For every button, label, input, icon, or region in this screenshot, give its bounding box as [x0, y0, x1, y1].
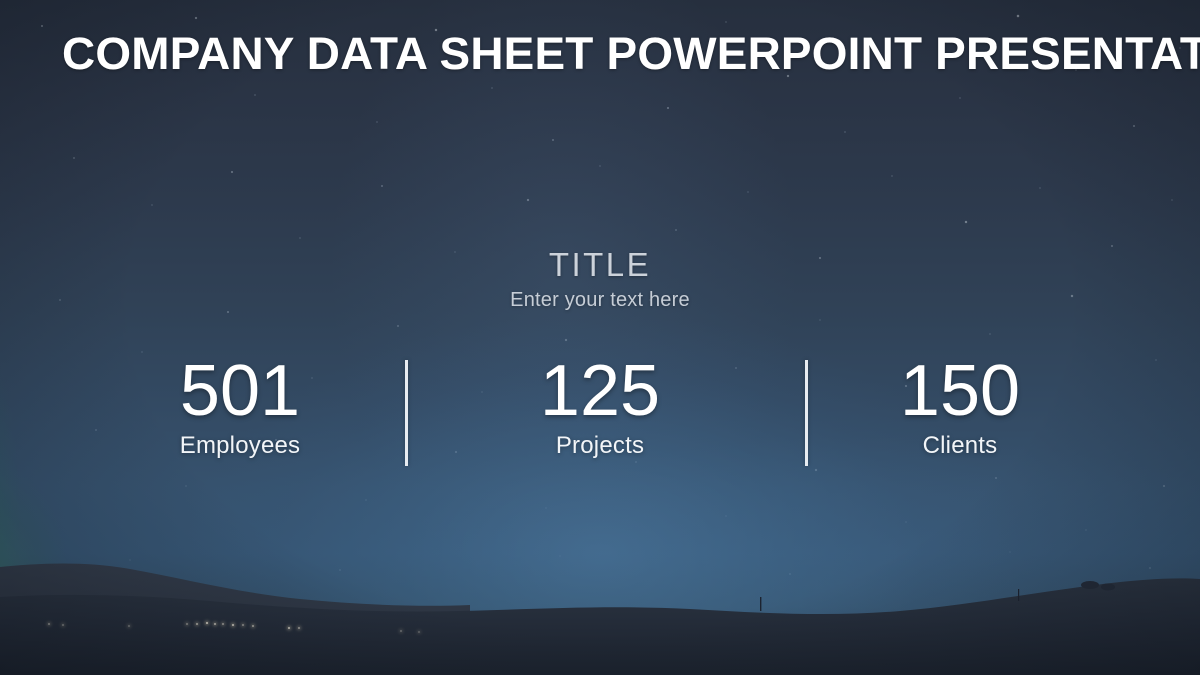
stat-label-clients: Clients — [780, 432, 1140, 460]
stat-label-projects: Projects — [420, 432, 780, 460]
stat-divider-1 — [405, 360, 408, 466]
headline-title: TITLE — [0, 246, 1200, 284]
slide-title: COMPANY DATA SHEET POWERPOINT PRESENTATI… — [62, 28, 1164, 80]
statistics-row: 501 Employees 125 Projects 150 Clients — [60, 352, 1140, 472]
stat-divider-2 — [805, 360, 808, 466]
headline-subtitle: Enter your text here — [0, 288, 1200, 312]
stat-employees: 501 Employees — [60, 352, 420, 460]
stat-label-employees: Employees — [60, 432, 420, 460]
slide-content: COMPANY DATA SHEET POWERPOINT PRESENTATI… — [0, 0, 1200, 675]
headline-block: TITLE Enter your text here — [0, 246, 1200, 312]
stat-value-employees: 501 — [60, 352, 420, 430]
stat-value-projects: 125 — [420, 352, 780, 430]
presentation-slide: COMPANY DATA SHEET POWERPOINT PRESENTATI… — [0, 0, 1200, 675]
stat-value-clients: 150 — [780, 352, 1140, 430]
stat-clients: 150 Clients — [780, 352, 1140, 460]
stat-projects: 125 Projects — [420, 352, 780, 460]
